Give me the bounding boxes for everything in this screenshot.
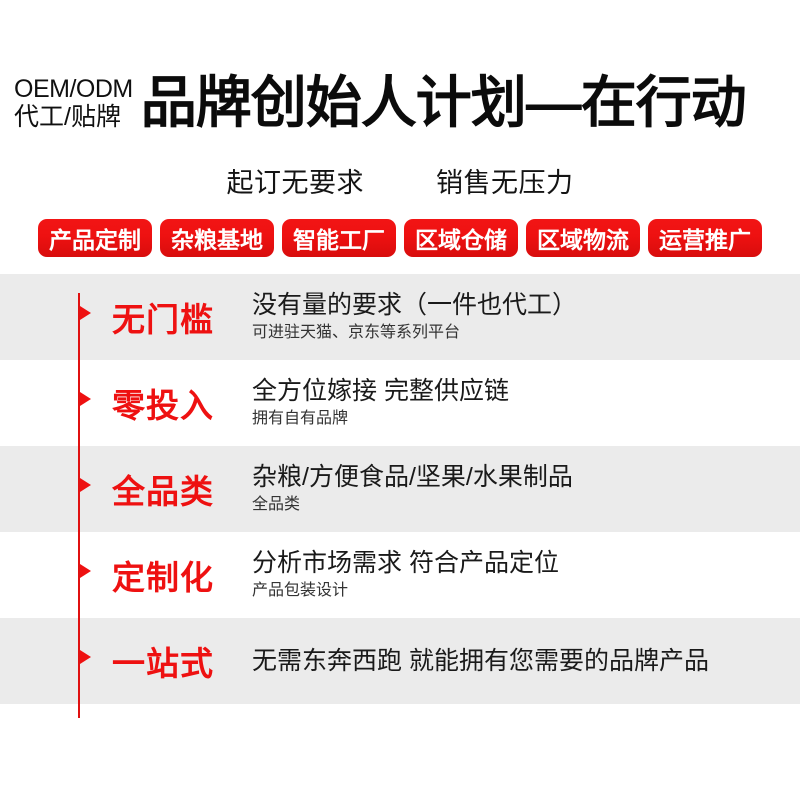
feature-keyword-1: 零投入 — [112, 379, 214, 427]
arrow-marker-icon-4 — [80, 650, 91, 664]
tag-chip-4[interactable]: 区域物流 — [526, 219, 640, 257]
tag-chip-0[interactable]: 产品定制 — [38, 219, 152, 257]
arrow-marker-icon-3 — [80, 564, 91, 578]
feature-keyword-2: 全品类 — [112, 465, 214, 513]
page-title: 品牌创始人计划—在行动 — [141, 75, 746, 131]
tag-strip: 产品定制 杂粮基地 智能工厂 区域仓储 区域物流 运营推广 — [0, 216, 800, 260]
feature-texts-1: 全方位嫁接 完整供应链 拥有自有品牌 — [252, 377, 509, 430]
feature-main-0: 没有量的要求（一件也代工） — [252, 291, 577, 320]
feature-sub-2: 全品类 — [252, 495, 573, 516]
subtitle-item-0: 起订无要求 — [227, 161, 365, 200]
feature-sub-1: 拥有自有品牌 — [252, 409, 509, 430]
feature-row-4: 一站式 无需东奔西跑 就能拥有您需要的品牌产品 — [0, 618, 800, 704]
feature-texts-0: 没有量的要求（一件也代工） 可进驻天猫、京东等系列平台 — [252, 291, 577, 344]
header-oem-label: OEM/ODM 代工/贴牌 — [14, 75, 133, 131]
header-oem-line2: 代工/贴牌 — [14, 103, 133, 131]
tag-chip-5[interactable]: 运营推广 — [648, 219, 762, 257]
tag-chip-1[interactable]: 杂粮基地 — [160, 219, 274, 257]
feature-list: 无门槛 没有量的要求（一件也代工） 可进驻天猫、京东等系列平台 零投入 全方位嫁… — [0, 274, 800, 708]
feature-keyword-3: 定制化 — [112, 551, 214, 599]
arrow-marker-icon-0 — [80, 306, 91, 320]
tag-chip-2[interactable]: 智能工厂 — [282, 219, 396, 257]
feature-texts-4: 无需东奔西跑 就能拥有您需要的品牌产品 — [252, 647, 709, 676]
feature-keyword-4: 一站式 — [112, 637, 214, 685]
subtitle-item-1: 销售无压力 — [436, 161, 574, 200]
subtitle-row: 起订无要求 销售无压力 — [0, 158, 800, 202]
tag-chip-3[interactable]: 区域仓储 — [404, 219, 518, 257]
feature-main-4: 无需东奔西跑 就能拥有您需要的品牌产品 — [252, 647, 709, 676]
feature-row-3: 定制化 分析市场需求 符合产品定位 产品包装设计 — [0, 532, 800, 618]
feature-keyword-0: 无门槛 — [112, 293, 214, 341]
header: OEM/ODM 代工/贴牌 品牌创始人计划—在行动 — [0, 62, 800, 144]
feature-main-2: 杂粮/方便食品/坚果/水果制品 — [252, 463, 573, 492]
feature-row-1: 零投入 全方位嫁接 完整供应链 拥有自有品牌 — [0, 360, 800, 446]
feature-main-3: 分析市场需求 符合产品定位 — [252, 549, 559, 578]
feature-texts-2: 杂粮/方便食品/坚果/水果制品 全品类 — [252, 463, 573, 516]
promo-banner: OEM/ODM 代工/贴牌 品牌创始人计划—在行动 起订无要求 销售无压力 产品… — [0, 0, 800, 800]
feature-texts-3: 分析市场需求 符合产品定位 产品包装设计 — [252, 549, 559, 602]
header-oem-line1: OEM/ODM — [14, 75, 133, 103]
feature-main-1: 全方位嫁接 完整供应链 — [252, 377, 509, 406]
feature-sub-3: 产品包装设计 — [252, 581, 559, 602]
feature-sub-0: 可进驻天猫、京东等系列平台 — [252, 323, 577, 344]
feature-row-0: 无门槛 没有量的要求（一件也代工） 可进驻天猫、京东等系列平台 — [0, 274, 800, 360]
feature-row-2: 全品类 杂粮/方便食品/坚果/水果制品 全品类 — [0, 446, 800, 532]
arrow-marker-icon-1 — [80, 392, 91, 406]
arrow-marker-icon-2 — [80, 478, 91, 492]
